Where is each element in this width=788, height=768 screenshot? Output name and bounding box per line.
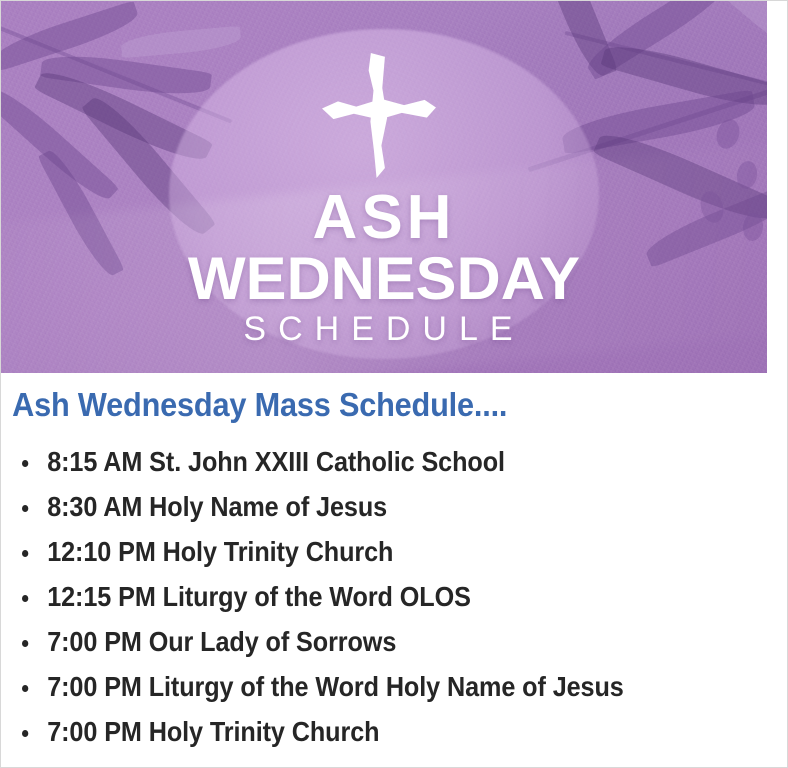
list-item: 7:00 PM Our Lady of Sorrows	[13, 619, 711, 664]
banner-title-line-1: ASH	[1, 187, 767, 249]
page-title: Ash Wednesday Mass Schedule....	[1, 379, 734, 425]
mass-schedule-list: 8:15 AM St. John XXIII Catholic School 8…	[1, 439, 788, 754]
list-item-text: 8:15 AM St. John XXIII Catholic School	[47, 446, 505, 477]
list-item: 7:00 PM Liturgy of the Word Holy Name of…	[13, 664, 711, 709]
bullet-icon	[22, 505, 28, 512]
ash-wednesday-banner-image: ASH WEDNESDAY SCHEDULE	[1, 1, 767, 373]
bullet-icon	[22, 640, 28, 647]
list-item-text: 7:00 PM Liturgy of the Word Holy Name of…	[47, 671, 624, 702]
banner-title-line-2: WEDNESDAY	[1, 249, 767, 309]
bullet-icon	[22, 460, 28, 467]
list-item-text: 7:00 PM Our Lady of Sorrows	[47, 626, 396, 657]
bullet-icon	[22, 730, 28, 737]
bullet-icon	[22, 685, 28, 692]
list-item-text: 12:10 PM Holy Trinity Church	[47, 536, 393, 567]
schedule-content: Ash Wednesday Mass Schedule.... 8:15 AM …	[1, 379, 788, 754]
banner-title-line-3: SCHEDULE	[1, 312, 767, 346]
list-item: 12:15 PM Liturgy of the Word OLOS	[13, 574, 711, 619]
list-item-text: 7:00 PM Holy Trinity Church	[47, 716, 379, 747]
ash-cross-icon	[319, 53, 439, 178]
list-item: 8:30 AM Holy Name of Jesus	[13, 484, 711, 529]
list-item: 8:15 AM St. John XXIII Catholic School	[13, 439, 711, 484]
list-item: 12:10 PM Holy Trinity Church	[13, 529, 711, 574]
bullet-icon	[22, 550, 28, 557]
bullet-icon	[22, 595, 28, 602]
page-root: ASH WEDNESDAY SCHEDULE Ash Wednesday Mas…	[0, 0, 788, 768]
list-item-text: 12:15 PM Liturgy of the Word OLOS	[47, 581, 471, 612]
list-item-text: 8:30 AM Holy Name of Jesus	[47, 491, 387, 522]
list-item: 7:00 PM Holy Trinity Church	[13, 709, 711, 754]
